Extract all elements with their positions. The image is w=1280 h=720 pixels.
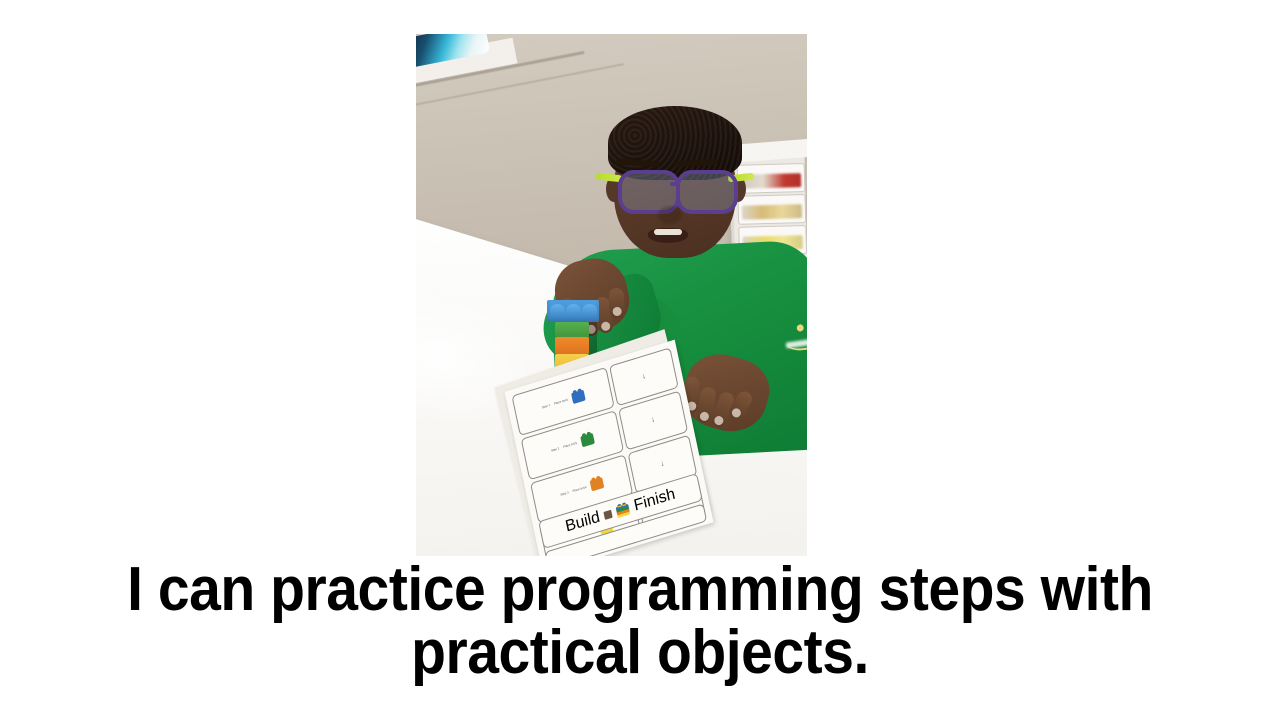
down-arrow-icon: ↓ — [641, 373, 646, 382]
nose — [658, 206, 682, 224]
brick-orange — [555, 337, 589, 354]
brick-stud — [582, 304, 597, 317]
down-arrow-icon: ↓ — [660, 460, 665, 469]
brick-stud — [566, 304, 581, 317]
worksheet-wide-label-left: Build — [564, 508, 602, 536]
worksheet-row-label-left: Step 2 — [551, 448, 560, 453]
worksheet-brick-icon-blue — [571, 390, 586, 405]
down-arrow-icon: ↓ — [651, 416, 656, 425]
slide: Step 1 Place brick Step 2 Place brick St… — [0, 0, 1280, 720]
worksheet-row-label-right: Place brick — [563, 442, 578, 449]
lesson-photo: Step 1 Place brick Step 2 Place brick St… — [416, 34, 807, 556]
worksheet-brick-icon-orange — [589, 477, 604, 492]
brick-stud — [550, 304, 565, 317]
glasses — [598, 168, 752, 210]
brick-green — [555, 322, 589, 337]
glasses-bridge — [670, 182, 680, 186]
brick-blue — [547, 300, 599, 322]
slide-caption: I can practice programming steps with pr… — [51, 558, 1229, 684]
worksheet-brick-icon-green — [580, 433, 595, 448]
worksheet-picture-icon — [604, 510, 613, 520]
worksheet-brick-icon-stack — [616, 503, 631, 518]
worksheet-row-label-right: Place brick — [554, 399, 569, 406]
glasses-lens-right — [676, 170, 738, 214]
school-crest-icon — [782, 319, 807, 354]
photo-scene: Step 1 Place brick Step 2 Place brick St… — [416, 34, 807, 556]
worksheet-row-label-right: Place brick — [572, 486, 587, 493]
teeth — [654, 229, 682, 235]
worksheet-row-label-left: Step 3 — [560, 491, 569, 496]
worksheet-row-label-left: Step 1 — [542, 404, 551, 409]
